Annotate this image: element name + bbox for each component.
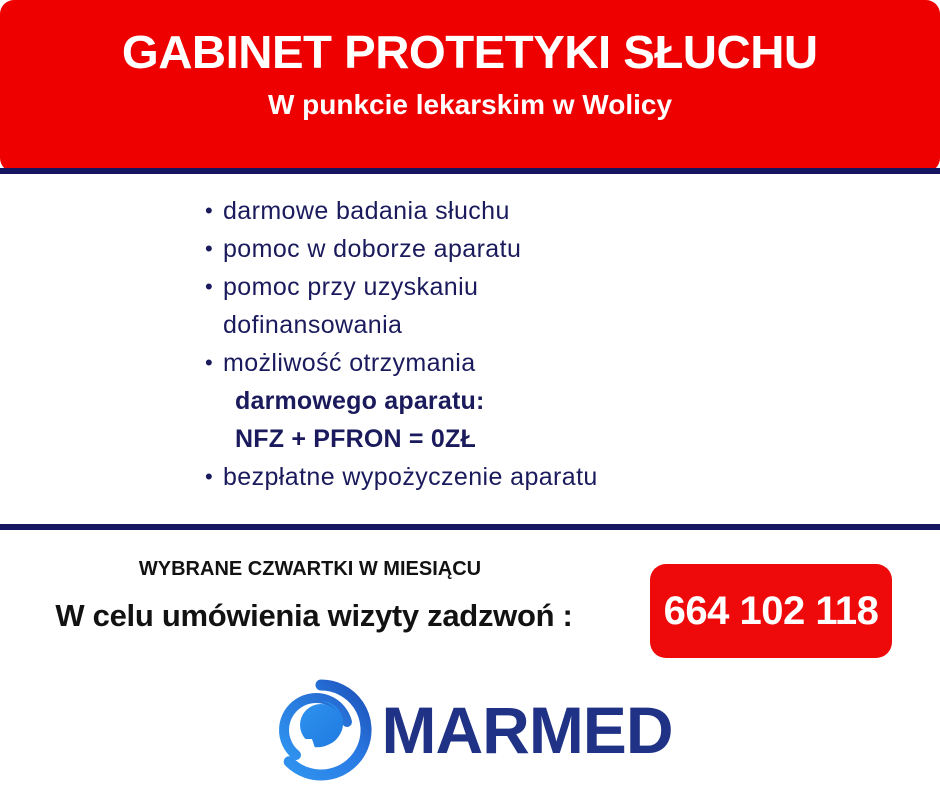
page-title: GABINET PROTETYKI SŁUCHU	[122, 28, 818, 76]
list-item: • pomoc przy uzyskaniu	[205, 268, 940, 306]
list-item-label-funding: NFZ + PFRON = 0ZŁ	[235, 420, 940, 458]
bullet-icon: •	[205, 344, 223, 382]
list-item-label: bezpłatne wypożyczenie aparatu	[223, 458, 940, 496]
features-list: • darmowe badania słuchu • pomoc w dobor…	[0, 192, 940, 496]
list-item-continuation: darmowego aparatu:	[205, 382, 940, 420]
list-item-label: darmowe badania słuchu	[223, 192, 940, 230]
availability-note: WYBRANE CZWARTKI W MIESIĄCU	[0, 558, 620, 581]
header-banner: GABINET PROTETYKI SŁUCHU W punkcie lekar…	[0, 0, 940, 172]
list-item: • darmowe badania słuchu	[205, 192, 940, 230]
list-item: • bezpłatne wypożyczenie aparatu	[205, 458, 940, 496]
list-item: • możliwość otrzymania	[205, 344, 940, 382]
divider-top	[0, 168, 940, 174]
phone-badge[interactable]: 664 102 118	[650, 564, 892, 658]
list-item: • pomoc w doborze aparatu	[205, 230, 940, 268]
page-subtitle: W punkcie lekarskim w Wolicy	[268, 90, 672, 121]
brand-logo: MARMED	[0, 672, 940, 788]
list-item-continuation: NFZ + PFRON = 0ZŁ	[205, 420, 940, 458]
list-item-label: pomoc w doborze aparatu	[223, 230, 940, 268]
list-item-label: pomoc przy uzyskaniu	[223, 268, 940, 306]
bullet-icon: •	[205, 458, 223, 496]
divider-bottom	[0, 524, 940, 530]
marmed-swirl-icon	[268, 677, 374, 783]
cta-headline: W celu umówienia wizyty zadzwoń :	[0, 598, 628, 634]
cta-section: WYBRANE CZWARTKI W MIESIĄCU W celu umówi…	[0, 540, 940, 670]
phone-number[interactable]: 664 102 118	[664, 589, 879, 634]
poster-root: GABINET PROTETYKI SŁUCHU W punkcie lekar…	[0, 0, 940, 788]
brand-wordmark: MARMED	[382, 697, 673, 763]
bullet-icon: •	[205, 192, 223, 230]
list-item-continuation: dofinansowania	[205, 306, 940, 344]
list-item-label: możliwość otrzymania	[223, 344, 940, 382]
list-item-label: dofinansowania	[223, 306, 940, 344]
bullet-icon: •	[205, 268, 223, 306]
list-item-label-emphasis: darmowego aparatu:	[235, 382, 940, 420]
bullet-icon: •	[205, 230, 223, 268]
